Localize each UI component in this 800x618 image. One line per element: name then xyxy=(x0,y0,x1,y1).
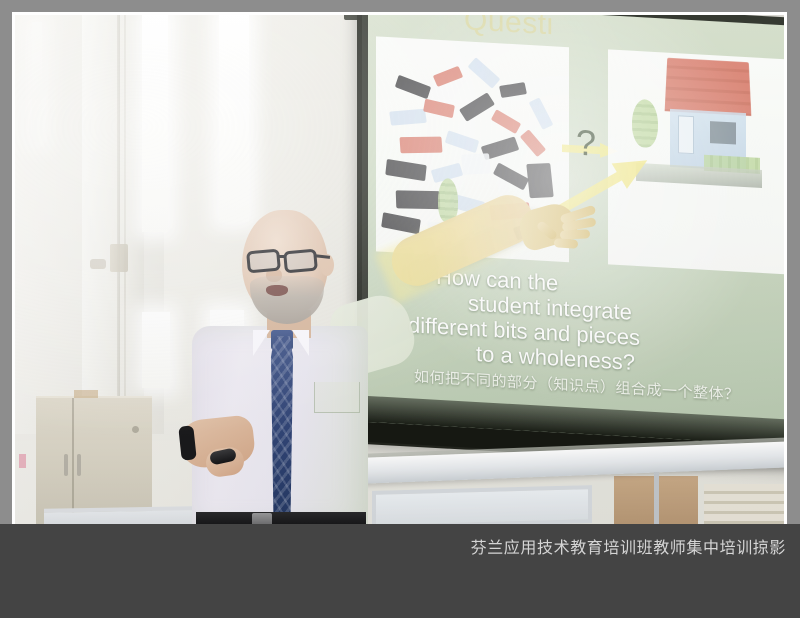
presenter-mouth xyxy=(266,285,288,296)
caption-bar: 芬兰应用技术教育培训班教师集中培训掠影 xyxy=(0,524,800,618)
photo-canvas: Questi xyxy=(0,0,800,618)
shirt-pocket xyxy=(314,382,360,413)
photograph: Questi xyxy=(14,14,785,526)
shirt-collar-left xyxy=(253,330,270,356)
presenter-arm-extended xyxy=(384,187,541,294)
shirt-collar-right xyxy=(292,330,309,356)
caption-text: 芬兰应用技术教育培训班教师集中培训掠影 xyxy=(471,534,786,558)
presenter-finger-4 xyxy=(554,238,579,249)
presenter-figure xyxy=(14,14,785,526)
eyeglasses-left-lens xyxy=(246,249,281,274)
necktie xyxy=(270,336,294,512)
eyeglasses-right-lens xyxy=(283,249,318,274)
presenter-beard xyxy=(250,276,324,324)
eyeglasses-bridge xyxy=(279,255,286,258)
